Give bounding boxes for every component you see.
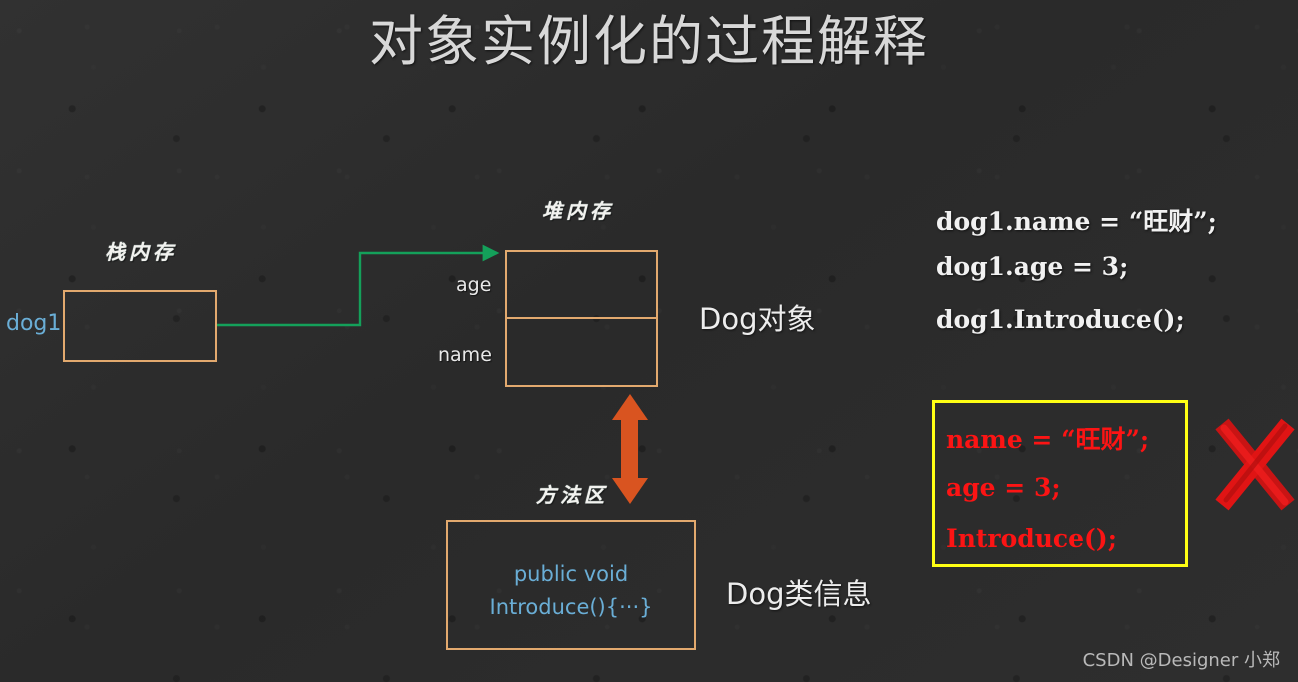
- cross-mark-icon: [1222, 424, 1288, 505]
- reference-arrow-green: [217, 253, 497, 325]
- heap-box-divider: [505, 317, 658, 319]
- right-code-line-1: dog1.name = “旺财”;: [936, 202, 1217, 238]
- method-code-line-1: public void: [446, 562, 696, 586]
- heap-memory-label: 堆内存: [542, 195, 614, 224]
- right-code-line-3: dog1.Introduce();: [936, 305, 1185, 334]
- slide-canvas: 对象实例化的过程解释 栈内存 dog1 堆内存 age name Dog对象 方…: [0, 0, 1298, 682]
- right-code-line-2: dog1.age = 3;: [936, 252, 1128, 281]
- wrong-code-line-1: name = “旺财”;: [946, 420, 1149, 456]
- heap-field-name-label: name: [438, 344, 492, 366]
- stack-memory-label: 栈内存: [105, 236, 177, 265]
- wrong-code-line-3: Introduce();: [946, 524, 1117, 553]
- stack-memory-box: [63, 290, 217, 362]
- watermark: CSDN @Designer 小郑: [1083, 646, 1280, 672]
- heap-caption-dog-object: Dog对象: [699, 296, 815, 338]
- stack-variable-dog1: dog1: [6, 311, 61, 336]
- heap-field-age-label: age: [456, 274, 491, 296]
- page-title: 对象实例化的过程解释: [0, 8, 1298, 76]
- wrong-code-line-2: age = 3;: [946, 473, 1061, 502]
- method-area-label: 方法区: [536, 479, 608, 508]
- method-code-line-2: Introduce(){···}: [446, 595, 696, 619]
- method-area-caption-dog-class-info: Dog类信息: [726, 571, 871, 613]
- double-arrow-orange: [612, 394, 648, 504]
